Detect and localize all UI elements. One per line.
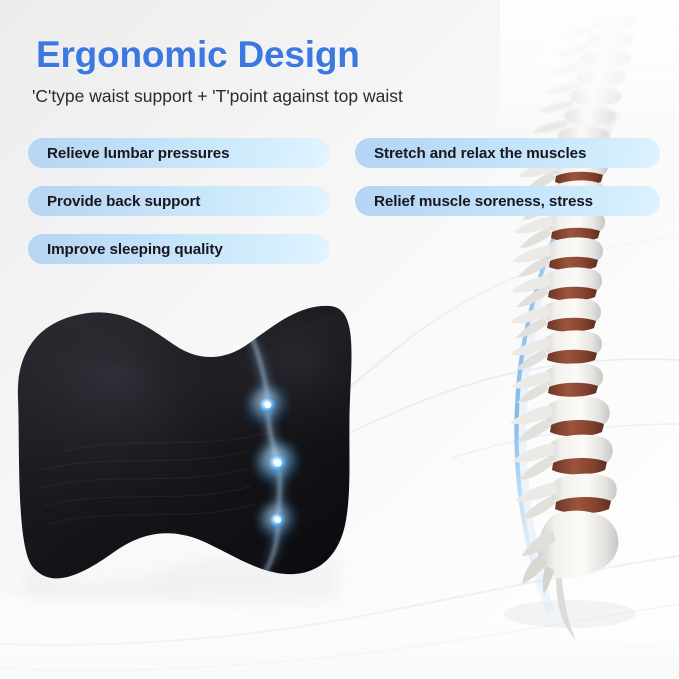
feature-pill-label: Provide back support <box>47 193 200 210</box>
feature-pill-relieve-lumbar-pressures: Relieve lumbar pressures <box>28 138 330 168</box>
feature-pill-label: Improve sleeping quality <box>47 241 223 258</box>
feature-pill-improve-sleeping-quality: Improve sleeping quality <box>28 234 330 264</box>
product-feature-image: Ergonomic Design 'C'type waist support +… <box>0 0 679 679</box>
page-title: Ergonomic Design <box>36 34 360 76</box>
feature-pill-label: Relieve lumbar pressures <box>47 145 229 162</box>
feature-pill-relief-muscle-soreness-stress: Relief muscle soreness, stress <box>355 186 660 216</box>
feature-pill-label: Stretch and relax the muscles <box>374 145 586 162</box>
feature-pill-stretch-and-relax-the-muscles: Stretch and relax the muscles <box>355 138 660 168</box>
page-subtitle: 'C'type waist support + 'T'point against… <box>32 86 403 107</box>
bottom-glow <box>0 600 679 679</box>
feature-pill-label: Relief muscle soreness, stress <box>374 193 593 210</box>
feature-pill-provide-back-support: Provide back support <box>28 186 330 216</box>
